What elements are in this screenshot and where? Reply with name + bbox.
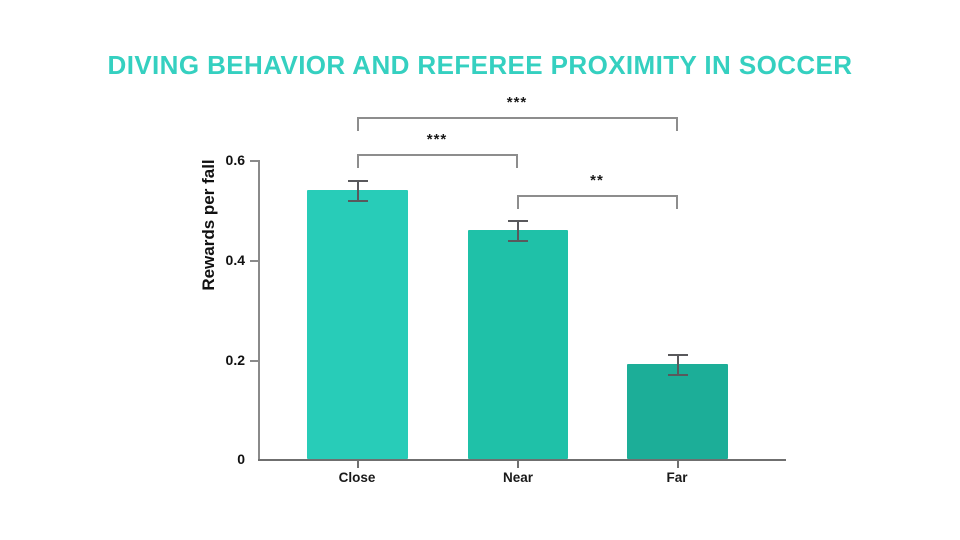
x-tick-mark-close: [357, 459, 359, 468]
errorbar-cap-bottom-far: [668, 374, 688, 376]
y-tick-mark-0.4: [250, 260, 259, 262]
errorbar-cap-top-far: [668, 354, 688, 356]
bar-near[interactable]: [468, 230, 568, 459]
x-tick-mark-far: [677, 459, 679, 468]
y-axis-title: Rewards per fall: [199, 125, 219, 325]
y-tick-label-0.2: 0.2: [185, 353, 245, 367]
errorbar-cap-top-near: [508, 220, 528, 222]
y-axis-line: [258, 160, 260, 460]
significance-label-near-far: **: [537, 173, 657, 188]
bar-far[interactable]: [627, 364, 728, 459]
significance-bracket-close-near: [357, 154, 518, 168]
errorbar-stem-near: [517, 220, 519, 240]
y-tick-mark-0.6: [250, 160, 259, 162]
slide-canvas: DIVING BEHAVIOR AND REFEREE PROXIMITY IN…: [0, 0, 960, 540]
errorbar-cap-top-close: [348, 180, 368, 182]
x-tick-label-close: Close: [297, 470, 417, 485]
y-tick-mark-0.2: [250, 360, 259, 362]
errorbar-stem-close: [357, 180, 359, 200]
bar-chart-plot: 0.6 0.4 0.2 0 Rewards per fall Close Nea…: [0, 0, 960, 540]
x-axis-line: [258, 459, 786, 461]
x-tick-label-far: Far: [617, 470, 737, 485]
bar-close[interactable]: [307, 190, 408, 459]
significance-label-close-near: ***: [377, 132, 497, 147]
errorbar-cap-bottom-near: [508, 240, 528, 242]
errorbar-cap-bottom-close: [348, 200, 368, 202]
x-tick-mark-near: [517, 459, 519, 468]
y-tick-label-0: 0: [185, 452, 245, 466]
significance-bracket-close-far: [357, 117, 678, 131]
x-tick-label-near: Near: [458, 470, 578, 485]
significance-bracket-near-far: [517, 195, 678, 209]
significance-label-close-far: ***: [457, 95, 577, 110]
errorbar-stem-far: [677, 354, 679, 374]
